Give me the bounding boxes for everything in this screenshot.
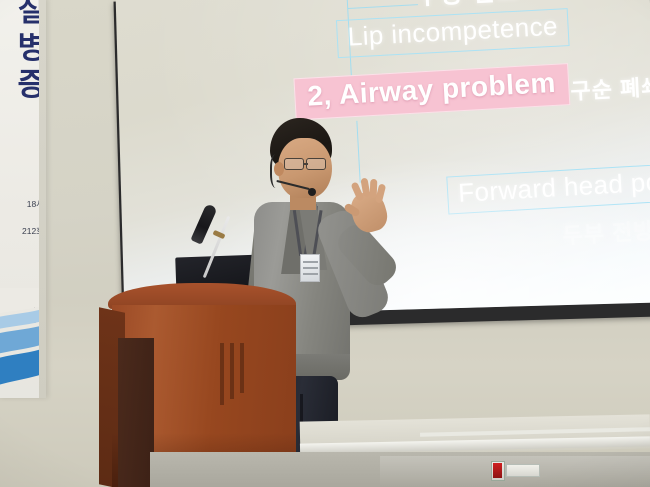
dark-foreground-post bbox=[118, 338, 154, 487]
name-badge bbox=[300, 254, 320, 282]
wall-notice-sign bbox=[506, 464, 540, 477]
eyeglasses-right-lens bbox=[306, 158, 326, 170]
badge-line bbox=[303, 261, 318, 263]
slide-connector-line bbox=[348, 4, 418, 9]
podium-groove bbox=[240, 343, 244, 393]
eyeglasses-bridge bbox=[303, 163, 308, 165]
fire-extinguisher-icon bbox=[493, 463, 502, 478]
banner-edge-strip bbox=[39, 0, 46, 398]
badge-line bbox=[303, 267, 318, 269]
slide-text-forward-head-posture: Forward head posture bbox=[446, 160, 650, 214]
eyeglasses-left-lens bbox=[284, 158, 304, 170]
podium-groove bbox=[220, 343, 224, 405]
lecture-photo: 구강 건조 Lip incompetence 구순 폐쇄 2, Airway p… bbox=[0, 0, 650, 487]
slide-text-lip-incompetence: Lip incompetence bbox=[336, 8, 570, 58]
slide-text-airway-problem: 2, Airway problem bbox=[293, 63, 570, 120]
headset-microphone-tip bbox=[308, 188, 316, 196]
podium-groove bbox=[230, 343, 234, 399]
event-banner: 질병 증 18시 212호 치의학회 오테크 bbox=[0, 0, 46, 398]
slide-text-lip-korean: 구순 폐쇄 bbox=[570, 69, 650, 106]
slide-text-forward-head-korean: 두부 전방 bbox=[562, 213, 650, 250]
badge-line bbox=[303, 273, 318, 275]
